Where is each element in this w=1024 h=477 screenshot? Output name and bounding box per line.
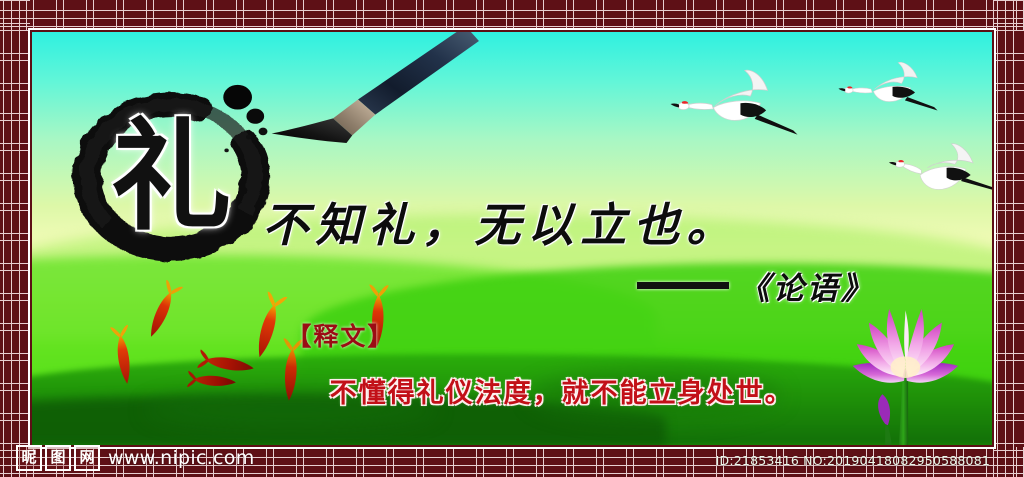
attribution-source: 《论语》 bbox=[739, 263, 875, 308]
quote-attribution: 《论语》 bbox=[637, 263, 875, 308]
lotus-flower-icon bbox=[819, 305, 992, 445]
main-quote: 不知礼，无以立也。 bbox=[262, 189, 800, 255]
poster-canvas: 礼 bbox=[0, 0, 1024, 477]
crane-icon bbox=[656, 69, 819, 147]
artwork-scene: 礼 bbox=[32, 32, 992, 445]
border-meander-left bbox=[0, 0, 30, 477]
explanation-text: 不懂得礼仪法度，就不能立身处世。 bbox=[330, 371, 794, 410]
site-watermark: 昵 图 网 www.nipic.com bbox=[16, 445, 255, 471]
attribution-dash bbox=[637, 282, 729, 289]
calligraphy-brush-icon bbox=[262, 32, 473, 156]
nipic-logo: 昵 图 网 bbox=[16, 445, 100, 471]
crane-icon bbox=[829, 61, 954, 123]
crane-icon bbox=[877, 139, 992, 205]
border-meander-right bbox=[994, 0, 1024, 477]
image-id-stamp: ID:21853416 NO:20190418082950588081 bbox=[716, 453, 990, 468]
logo-char-2: 图 bbox=[45, 445, 71, 471]
watermark-url: www.nipic.com bbox=[108, 447, 255, 469]
border-meander-top bbox=[0, 0, 1024, 30]
annotation-label: 【释文】 bbox=[286, 317, 394, 353]
logo-char-1: 昵 bbox=[16, 445, 42, 471]
logo-char-3: 网 bbox=[74, 445, 100, 471]
theme-character: 礼 bbox=[61, 82, 282, 272]
